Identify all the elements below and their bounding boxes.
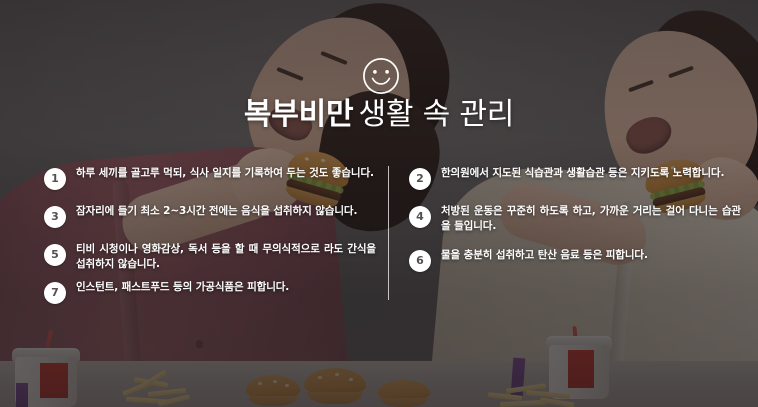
list-item: 2 한의원에서 지도된 식습관과 생활습관 등은 지키도록 노력합니다.: [409, 166, 741, 196]
list-item: 1 하루 세끼를 골고루 먹되, 식사 일지를 기록하여 두는 것도 좋습니다.: [44, 166, 376, 196]
column-divider: [388, 166, 389, 300]
tip-number-badge: 3: [44, 206, 66, 228]
page-title: 복부비만생활 속 관리: [0, 98, 758, 132]
tip-text: 처방된 운동은 꾸준히 하도록 하고, 가까운 거리는 걸어 다니는 습관을 들…: [441, 204, 741, 234]
tip-text: 하루 세끼를 골고루 먹되, 식사 일지를 기록하여 두는 것도 좋습니다.: [76, 166, 374, 181]
list-item: 4 처방된 운동은 꾸준히 하도록 하고, 가까운 거리는 걸어 다니는 습관을…: [409, 204, 741, 234]
tip-text: 인스턴트, 패스트푸드 등의 가공식품은 피합니다.: [76, 280, 289, 295]
tip-number-badge: 5: [44, 244, 66, 266]
tip-text: 티비 시청이나 영화감상, 독서 등을 할 때 무의식적으로 라도 간식을 섭취…: [76, 242, 376, 272]
tip-number-badge: 6: [409, 250, 431, 272]
tip-text: 한의원에서 지도된 식습관과 생활습관 등은 지키도록 노력합니다.: [441, 166, 724, 181]
content-layer: 복부비만생활 속 관리 1 하루 세끼를 골고루 먹되, 식사 일지를 기록하여…: [0, 0, 758, 407]
tip-text: 물을 충분히 섭취하고 탄산 음료 등은 피합니다.: [441, 248, 648, 263]
tip-number-badge: 4: [409, 206, 431, 228]
infographic-banner: 복부비만생활 속 관리 1 하루 세끼를 골고루 먹되, 식사 일지를 기록하여…: [0, 0, 758, 407]
list-item: 3 잠자리에 들기 최소 2~3시간 전에는 음식을 섭취하지 않습니다.: [44, 204, 376, 234]
tip-number-badge: 1: [44, 168, 66, 190]
tip-number-badge: 2: [409, 168, 431, 190]
tip-text: 잠자리에 들기 최소 2~3시간 전에는 음식을 섭취하지 않습니다.: [76, 204, 357, 219]
list-item: 6 물을 충분히 섭취하고 탄산 음료 등은 피합니다.: [409, 248, 741, 278]
tips-column-left: 1 하루 세끼를 골고루 먹되, 식사 일지를 기록하여 두는 것도 좋습니다.…: [44, 166, 376, 318]
title-strong: 복부비만: [244, 97, 354, 132]
list-item: 7 인스턴트, 패스트푸드 등의 가공식품은 피합니다.: [44, 280, 376, 310]
tip-number-badge: 7: [44, 282, 66, 304]
smiley-face-icon: [362, 57, 400, 95]
title-light: 생활 속 관리: [358, 97, 514, 132]
tips-column-right: 2 한의원에서 지도된 식습관과 생활습관 등은 지키도록 노력합니다. 4 처…: [409, 166, 741, 286]
list-item: 5 티비 시청이나 영화감상, 독서 등을 할 때 무의식적으로 라도 간식을 …: [44, 242, 376, 272]
